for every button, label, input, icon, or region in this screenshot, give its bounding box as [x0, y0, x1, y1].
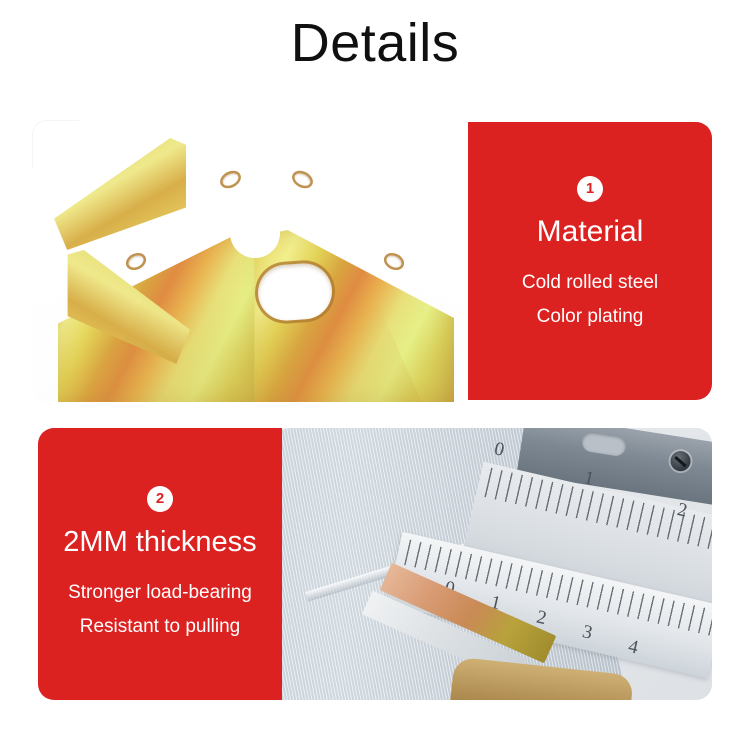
brace-shadow — [94, 288, 424, 402]
badge-number-1: 1 — [577, 176, 603, 202]
panel-line-thickness-1: Stronger load-bearing — [68, 576, 252, 610]
screw-hole — [220, 171, 240, 189]
panel-line-material-1: Cold rolled steel — [522, 266, 658, 300]
info-panel-thickness: 2 2MM thickness Stronger load-bearing Re… — [38, 428, 282, 700]
info-panel-material: 1 Material Cold rolled steel Color plati… — [468, 122, 712, 400]
photo-corner-outline — [32, 120, 79, 167]
panel-heading-thickness: 2MM thickness — [63, 522, 256, 562]
page-title: Details — [0, 12, 750, 74]
vernier-number-4: 4 — [626, 636, 640, 660]
corner-brace-illustration — [54, 138, 454, 402]
screw-hole — [126, 253, 145, 270]
vernier-number-3: 3 — [580, 621, 594, 645]
panel-line-thickness-2: Resistant to pulling — [80, 610, 241, 644]
photo-backdrop — [32, 120, 472, 402]
screw-hole — [384, 253, 403, 270]
caliper-screw — [669, 450, 692, 473]
caliper-measurement-photo: 0 1 2 0 1 2 3 4 — [282, 428, 712, 700]
screw-hole — [292, 171, 312, 189]
badge-number-2: 2 — [147, 486, 173, 512]
panel-line-material-2: Color plating — [537, 300, 644, 334]
panel-heading-material: Material — [537, 212, 644, 252]
bracket-product-photo — [32, 120, 472, 402]
